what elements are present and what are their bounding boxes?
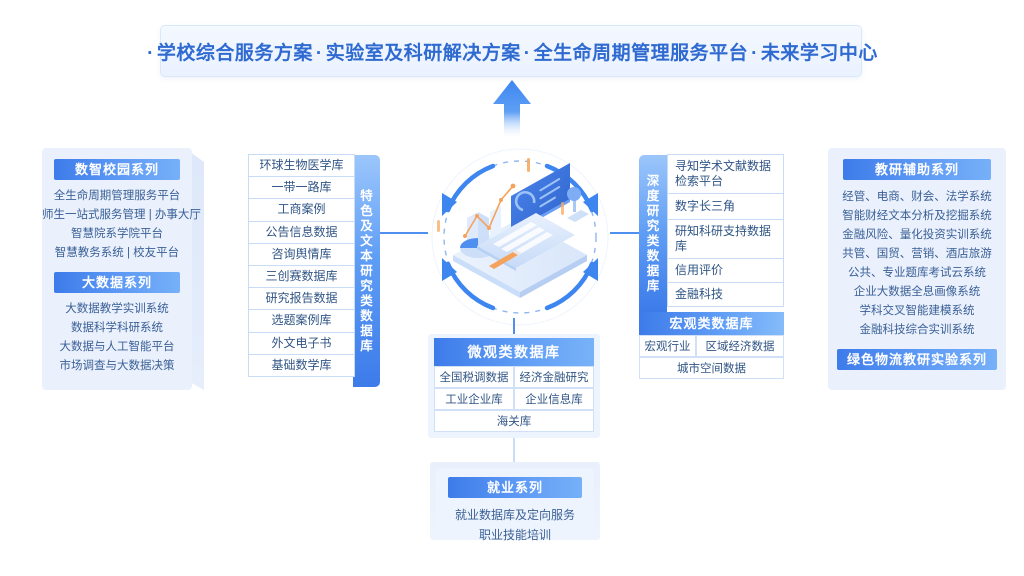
vertical-label-char: 文	[360, 234, 373, 249]
banner-separator: ·	[144, 43, 157, 64]
vertical-label-char: 据	[360, 324, 373, 339]
banner-separator: ·	[748, 43, 761, 64]
diagram-canvas: ·学校综合服务方案·实验室及科研解决方案·全生命周期管理服务平台·未来学习中心 …	[0, 0, 1024, 576]
deep-research-card-list: 寻知学术文献数据检索平台数字长三角研知科研支持数据库信用评价金融科技	[667, 155, 784, 307]
micro-row-1: 全国税调数据 经济金融研究	[434, 366, 594, 388]
text-research-column: 特色及文本研究类数据库 环球生物医学库一带一路库工商案例公告信息数据咨询舆情库三…	[248, 155, 380, 387]
micro-box-title: 微观类数据库	[434, 338, 594, 366]
list-item: 师生一站式服务管理 | 办事大厅	[42, 206, 192, 225]
list-item: 智慧教务系统 | 校友平台	[42, 244, 192, 263]
left-panel: 数智校园系列 全生命周期管理服务平台 师生一站式服务管理 | 办事大厅 智慧院系…	[42, 148, 192, 390]
text-research-vertical-label: 特色及文本研究类数据库	[353, 155, 380, 387]
employment-box: 就业系列 就业数据库及定向服务 职业技能培训	[436, 468, 594, 534]
macro-row-1: 宏观行业 区域经济数据	[639, 335, 784, 357]
database-card[interactable]: 三创赛数据库	[248, 265, 355, 288]
database-card[interactable]: 信用评价	[667, 258, 784, 283]
macro-cell: 城市空间数据	[639, 357, 784, 379]
employment-title: 就业系列	[448, 477, 582, 498]
list-item: 智能财经文本分析及挖掘系统	[828, 207, 1006, 226]
micro-row-3: 海关库	[434, 410, 594, 432]
center-illustration	[415, 140, 625, 335]
vertical-label-char: 度	[647, 189, 660, 204]
left-group-1-title: 大数据系列	[54, 272, 180, 293]
vertical-label-char: 究	[360, 279, 373, 294]
banner-item: 学校综合服务方案	[157, 43, 313, 64]
connector-micro-to-employment	[513, 437, 515, 463]
micro-row-2: 工业企业库 企业信息库	[434, 388, 594, 410]
top-banner-text: ·学校综合服务方案·实验室及科研解决方案·全生命周期管理服务平台·未来学习中心	[144, 38, 878, 65]
macro-title: 宏观类数据库	[639, 312, 784, 335]
list-item: 共管、国贸、营销、酒店旅游	[828, 245, 1006, 264]
banner-separator: ·	[521, 43, 534, 64]
employment-items: 就业数据库及定向服务 职业技能培训	[436, 505, 594, 545]
database-card[interactable]: 基础数学库	[248, 354, 355, 377]
database-card[interactable]: 选题案例库	[248, 309, 355, 332]
database-card[interactable]: 研究报告数据	[248, 287, 355, 310]
vertical-label-char: 研	[360, 264, 373, 279]
right-panel: 教研辅助系列 经管、电商、财会、法学系统智能财经文本分析及挖掘系统金融风险、量化…	[828, 148, 1006, 390]
vertical-label-char: 据	[647, 264, 660, 279]
vertical-label-char: 深	[647, 174, 660, 189]
vertical-label-char: 数	[647, 249, 660, 264]
vertical-label-char: 数	[360, 309, 373, 324]
database-card[interactable]: 外文电子书	[248, 332, 355, 355]
vertical-label-char: 库	[360, 339, 373, 354]
vertical-label-char: 及	[360, 219, 373, 234]
deep-research-column: 深度研究类数据库 寻知学术文献数据检索平台数字长三角研知科研支持数据库信用评价金…	[639, 155, 784, 385]
right-panel-title: 教研辅助系列	[843, 159, 991, 180]
macro-row-2: 城市空间数据	[639, 357, 784, 379]
banner-item: 实验室及科研解决方案	[326, 43, 521, 64]
left-panel-3d-edge	[190, 152, 204, 390]
list-item: 数据科学科研系统	[42, 319, 192, 338]
right-panel-items: 经管、电商、财会、法学系统智能财经文本分析及挖掘系统金融风险、量化投资实训系统共…	[828, 188, 1006, 340]
list-item: 大数据与人工智能平台	[42, 338, 192, 357]
micro-cell: 工业企业库	[434, 388, 514, 410]
micro-cell: 全国税调数据	[434, 366, 514, 388]
right-panel-footer-title: 绿色物流教研实验系列	[837, 349, 997, 370]
vertical-label-char: 本	[360, 249, 373, 264]
list-item: 学科交叉智能建模系统	[828, 302, 1006, 321]
micro-cell: 海关库	[434, 410, 594, 432]
vertical-label-char: 究	[647, 219, 660, 234]
micro-cell: 企业信息库	[514, 388, 594, 410]
micro-database-box: 微观类数据库 全国税调数据 经济金融研究 工业企业库 企业信息库 海关库	[434, 338, 594, 432]
list-item: 就业数据库及定向服务	[436, 505, 594, 525]
database-card[interactable]: 研知科研支持数据库	[667, 219, 784, 259]
database-card[interactable]: 工商案例	[248, 198, 355, 221]
banner-separator: ·	[313, 43, 326, 64]
macro-database-block: 宏观类数据库 宏观行业 区域经济数据 城市空间数据	[639, 312, 784, 379]
database-card[interactable]: 咨询舆情库	[248, 243, 355, 266]
list-item: 职业技能培训	[436, 525, 594, 545]
list-item: 智慧院系学院平台	[42, 225, 192, 244]
vertical-label-char: 特	[360, 189, 373, 204]
list-item: 经管、电商、财会、法学系统	[828, 188, 1006, 207]
left-group-0-title: 数智校园系列	[54, 159, 180, 180]
database-card[interactable]: 数字长三角	[667, 193, 784, 220]
left-group-1-items: 大数据教学实训系统 数据科学科研系统 大数据与人工智能平台 市场调查与大数据决策	[42, 300, 192, 376]
macro-cell: 区域经济数据	[696, 335, 784, 357]
vertical-label-char: 库	[647, 279, 660, 294]
database-card[interactable]: 一带一路库	[248, 176, 355, 199]
list-item: 公共、专业题库考试云系统	[828, 264, 1006, 283]
vertical-label-char: 研	[647, 204, 660, 219]
left-group-0-items: 全生命周期管理服务平台 师生一站式服务管理 | 办事大厅 智慧院系学院平台 智慧…	[42, 187, 192, 263]
list-item: 金融风险、量化投资实训系统	[828, 226, 1006, 245]
vertical-label-char: 类	[647, 234, 660, 249]
text-research-card-list: 环球生物医学库一带一路库工商案例公告信息数据咨询舆情库三创赛数据库研究报告数据选…	[248, 155, 355, 377]
list-item: 金融科技综合实训系统	[828, 321, 1006, 340]
database-card[interactable]: 环球生物医学库	[248, 154, 355, 177]
banner-item: 全生命周期管理服务平台	[534, 43, 749, 64]
top-banner: ·学校综合服务方案·实验室及科研解决方案·全生命周期管理服务平台·未来学习中心	[160, 25, 862, 77]
macro-cell: 宏观行业	[639, 335, 696, 357]
vertical-label-char: 类	[360, 294, 373, 309]
database-card[interactable]: 寻知学术文献数据检索平台	[667, 154, 784, 194]
connector-center-to-right	[610, 232, 640, 234]
list-item: 大数据教学实训系统	[42, 300, 192, 319]
database-card[interactable]: 金融科技	[667, 282, 784, 307]
micro-cell: 经济金融研究	[514, 366, 594, 388]
database-card[interactable]: 公告信息数据	[248, 221, 355, 244]
list-item: 企业大数据全息画像系统	[828, 283, 1006, 302]
up-arrow-icon	[487, 78, 537, 138]
list-item: 市场调查与大数据决策	[42, 357, 192, 376]
deep-research-vertical-label: 深度研究类数据库	[639, 155, 667, 312]
vertical-label-char: 色	[360, 204, 373, 219]
list-item: 全生命周期管理服务平台	[42, 187, 192, 206]
banner-item: 未来学习中心	[761, 43, 878, 64]
